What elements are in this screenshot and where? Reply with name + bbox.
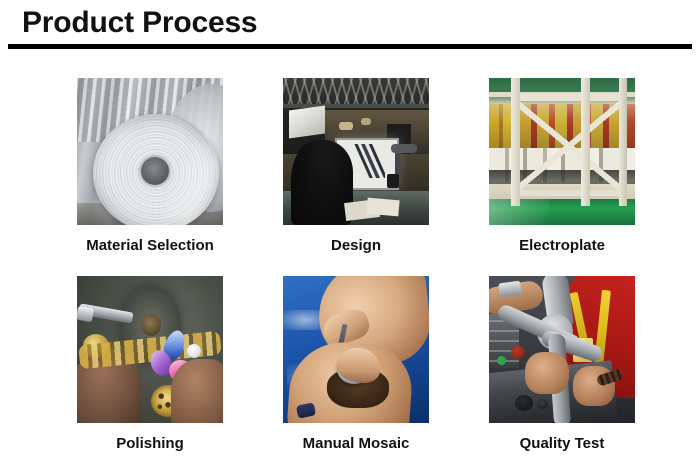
process-step-manual-mosaic[interactable]: Manual Mosaic: [253, 276, 459, 453]
ceiling-lamp: [339, 122, 353, 130]
steel-column-left: [511, 78, 520, 206]
process-step-label: Quality Test: [520, 435, 605, 453]
process-step-label: Polishing: [116, 435, 184, 453]
title-divider: [8, 44, 692, 49]
control-knob-red: [511, 346, 525, 359]
design-photo[interactable]: [283, 78, 429, 225]
process-step-label: Manual Mosaic: [303, 435, 410, 453]
material-selection-photo[interactable]: [77, 78, 223, 225]
control-knob-small: [537, 399, 548, 409]
polishing-photo[interactable]: [77, 276, 223, 423]
polishing-wheel-hub: [141, 314, 161, 336]
process-row: Material Selection: [0, 78, 700, 276]
process-step-label: Electroplate: [519, 237, 605, 255]
operator-hand-left: [525, 352, 569, 394]
spindle-cap: [77, 306, 94, 323]
process-row: Polishing Manual Mosaic: [0, 276, 700, 474]
process-step-design[interactable]: Design: [253, 78, 459, 255]
process-step-material-selection[interactable]: Material Selection: [47, 78, 253, 255]
status-led: [497, 356, 506, 365]
frame-top-rail: [511, 94, 627, 101]
frame-bottom-rail: [511, 190, 627, 196]
electroplate-photo[interactable]: [489, 78, 635, 225]
process-step-label: Design: [331, 237, 381, 255]
process-grid: Material Selection: [0, 78, 700, 474]
desk-papers-secondary: [366, 198, 399, 217]
right-hand: [171, 359, 223, 423]
control-knob-large: [515, 395, 533, 411]
page-title: Product Process: [22, 4, 257, 42]
process-step-quality-test[interactable]: Quality Test: [459, 276, 665, 453]
process-step-label: Material Selection: [86, 237, 214, 255]
coil-hub: [141, 157, 169, 185]
steel-column-right: [619, 78, 627, 206]
process-step-electroplate[interactable]: Electroplate: [459, 78, 665, 255]
steel-cross-brace: [511, 98, 627, 194]
steel-column-center: [581, 78, 590, 206]
designer-silhouette: [291, 140, 353, 225]
quality-test-photo[interactable]: [489, 276, 635, 423]
desk-lamp-head: [391, 144, 417, 153]
desk-cup: [387, 174, 399, 188]
studio-window: [289, 105, 325, 138]
clear-gemstone: [187, 344, 201, 358]
manual-mosaic-photo[interactable]: [283, 276, 429, 423]
process-step-polishing[interactable]: Polishing: [47, 276, 253, 453]
ceiling-lamp-secondary: [361, 118, 371, 125]
